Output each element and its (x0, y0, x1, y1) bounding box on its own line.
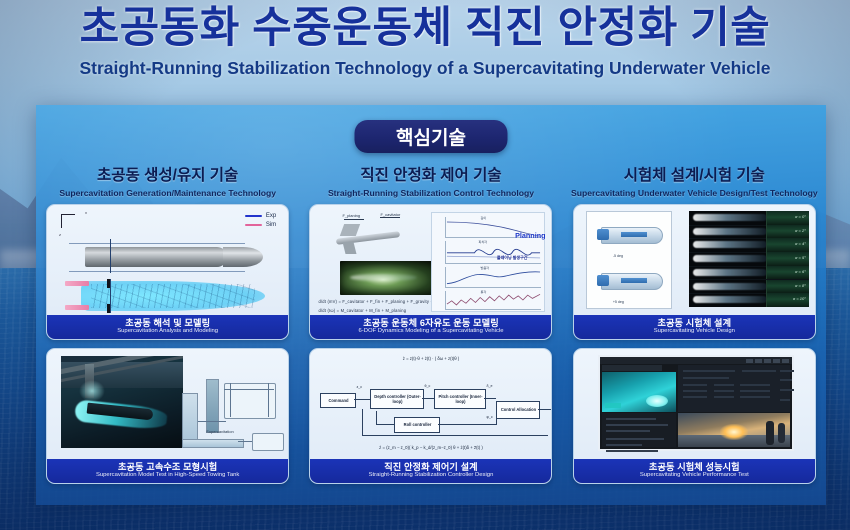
annotation-planning: Planning (515, 231, 545, 240)
cavity-streak (693, 241, 767, 248)
schematic-leader (198, 421, 226, 422)
cavity-line-upper (69, 243, 245, 244)
core-technology-badge: 핵심기술 (355, 120, 508, 153)
signal-label-thetac: θ_c (424, 384, 430, 388)
schematic-strut (206, 379, 219, 433)
column-title-english: Supercavitating Underwater Vehicle Desig… (571, 188, 818, 198)
figure-software-dashboard (574, 349, 815, 459)
window-titlebar (600, 357, 792, 364)
cavity-streak (693, 296, 767, 303)
feedback-vertical-left (362, 409, 363, 435)
telemetry-table (678, 365, 790, 412)
card-vehicle-design[interactable]: -5 deg +5 deg α = 0° (573, 204, 816, 340)
card-caption: 초공동 시험체 성능시험 Supercavitating Vehicle Per… (574, 459, 815, 483)
water-spray (79, 380, 105, 402)
schematic-line-1 (224, 389, 274, 390)
plot-title-roll: 롤각 (480, 289, 486, 294)
plot-title-pitch: 피치각 (478, 239, 487, 244)
block-pitch-controller: Pitch controller (Inner-loop) (434, 389, 486, 409)
block-command: Command (320, 393, 356, 408)
cavity-streak (693, 255, 767, 262)
grid-row: α = 0° (689, 211, 809, 226)
cad-view-lower (591, 264, 667, 298)
card-towing-tank-test[interactable]: Supercavitation 초공동 고속수조 모형시험 Supercavit… (46, 348, 289, 484)
column-header: 초공동 생성/유지 기술 Supercavitation Generation/… (59, 163, 276, 198)
caption-english: 6-DOF Dynamics Modeling of a Supercavita… (358, 329, 503, 335)
station-line-bottom (110, 279, 111, 313)
card-caption: 초공동 고속수조 모형시험 Supercavitation Model Test… (47, 459, 288, 483)
cad-cutaway-panel: -5 deg +5 deg (586, 211, 672, 309)
cavity-streak (693, 228, 767, 235)
figure-block-diagram: ż = z(t)·θ + ż(t) · ( δω + z(t)θ ) ż = … (310, 349, 551, 459)
technician-figure-secondary (778, 423, 785, 443)
column-title-english: Straight-Running Stabilization Control T… (328, 188, 534, 198)
cad-view-upper (591, 218, 667, 252)
grid-row: α = 6° (689, 266, 809, 281)
software-window (600, 357, 792, 449)
feedback-to-roll (376, 424, 394, 425)
status-panel (602, 413, 676, 447)
cavitation-photo (340, 261, 436, 295)
plot-roll (445, 291, 541, 310)
signal-junction-vertical (496, 401, 497, 425)
signal-line-command-depth (354, 399, 370, 400)
card-supercavitation-analysis[interactable]: x z Exp Sim (46, 204, 289, 340)
plot-roll-curve (446, 291, 541, 309)
schematic-base (182, 439, 244, 448)
force-label-planing: F_planing (342, 213, 360, 218)
card-caption: 초공동 해석 및 모델링 Supercavitation Analysis an… (47, 315, 288, 339)
grid-label-alpha: α = 4° (795, 241, 806, 246)
column-vehicle-design-test: 시험체 설계/시험 기술 Supercavitating Underwater … (563, 163, 826, 492)
force-arrow-planing (344, 219, 364, 220)
lab-test-photo (678, 413, 790, 447)
cad-cavitator-lower (597, 275, 609, 286)
grid-label-cell: α = 10° (766, 293, 809, 307)
equation-rotational: d/dt (Iω) = M_cavitator + M_fin + M_plan… (318, 308, 406, 313)
block-control-allocation: Control Allocation (496, 401, 540, 419)
column-title-english: Supercavitation Generation/Maintenance T… (59, 188, 276, 198)
grid-row: α = 2° (689, 225, 809, 240)
grid-label-cell: α = 0° (766, 211, 809, 225)
signal-line-output (538, 409, 551, 410)
block-depth-controller: Depth controller (Outer-loop) (370, 389, 424, 409)
grid-label-cell: α = 4° (766, 238, 809, 252)
signal-line-pitch-allocation (484, 398, 496, 399)
feedback-branch-roll (376, 411, 377, 424)
annotation-planing-zone-korean: 플레이닝 발생구간 (497, 255, 528, 261)
plot-aoa (445, 267, 541, 288)
signal-line-roll-allocation (438, 424, 496, 425)
station-line-top (110, 239, 111, 273)
grid-label-alpha: α = 2° (795, 228, 806, 233)
caption-korean: 초공동 시험체 성능시험 (649, 463, 740, 472)
muzzle-flash (720, 424, 748, 440)
sonar-view (602, 372, 676, 412)
sonar-tag (605, 403, 621, 408)
figure-towing-tank: Supercavitation (47, 349, 288, 459)
free-body-diagram: F_planing F_cavitator (322, 213, 418, 259)
page-title-english: Straight-Running Stabilization Technolog… (0, 58, 850, 79)
exp-marker-upper (107, 279, 110, 288)
caption-korean: 초공동 해석 및 모델링 (125, 319, 210, 328)
card-performance-test[interactable]: 초공동 시험체 성능시험 Supercavitating Vehicle Per… (573, 348, 816, 484)
schematic-line-2 (230, 383, 231, 417)
figure-6dof: F_planing F_cavitator d/dt (mV) = F_cavi… (310, 205, 551, 315)
vehicle-fin-upper (340, 224, 360, 236)
sim-marker-upper (65, 281, 89, 286)
caption-korean: 초공동 고속수조 모형시험 (118, 463, 217, 472)
feedback-horizontal (362, 435, 548, 436)
test-image-grid: α = 0° α = 2° α = 4° α = 5° (689, 211, 809, 307)
grid-label-cell: α = 8° (766, 280, 809, 294)
card-6dof-modeling[interactable]: F_planing F_cavitator d/dt (mV) = F_cavi… (309, 204, 552, 340)
caption-english: Supercavitation Model Test in High-Speed… (96, 473, 239, 479)
sim-marker-lower (65, 305, 89, 310)
column-stabilization-control: 직진 안정화 제어 기술 Straight-Running Stabilizat… (299, 163, 562, 492)
grid-row: α = 4° (689, 238, 809, 253)
schematic-detail-inset (252, 433, 284, 451)
cad-label-lower: +5 deg (613, 300, 624, 304)
grid-label-alpha: α = 6° (795, 269, 806, 274)
card-controller-design[interactable]: ż = z(t)·θ + ż(t) · ( δω + z(t)θ ) ż = … (309, 348, 552, 484)
legend-item-exp: Exp (245, 213, 276, 219)
cad-actuator-lower (621, 278, 647, 283)
legend-swatch-sim (245, 224, 262, 226)
grid-label-alpha: α = 10° (793, 296, 806, 301)
towing-tank-photo (61, 356, 183, 448)
figure-cad-and-grid: -5 deg +5 deg α = 0° (574, 205, 815, 315)
legend-item-sim: Sim (245, 222, 276, 228)
figure-cfd-overlay: x z Exp Sim (47, 205, 288, 315)
signal-label-phic: φ_c (486, 415, 492, 419)
cad-label-upper: -5 deg (613, 254, 623, 258)
grid-label-alpha: α = 0° (795, 214, 806, 219)
block-roll-controller: Roll controller (394, 417, 440, 433)
schematic-leader-2 (238, 441, 252, 442)
sonar-target-blob (646, 395, 668, 407)
vehicle-fin-lower (343, 242, 357, 254)
grid-row: α = 8° (689, 280, 809, 295)
cad-actuator-upper (621, 232, 647, 237)
column-title-korean: 시험체 설계/시험 기술 (571, 163, 818, 185)
schematic-wall-left (182, 393, 198, 445)
timeseries-plot-group: 깊이 피치각 받음각 (431, 212, 545, 312)
equation-bottom: ż = (z_m − z_0)( k_p − k_d/(z_m−z_0) θ +… (320, 445, 541, 450)
signal-label-zc: z_c (356, 385, 362, 389)
plot-title-depth: 깊이 (480, 215, 486, 220)
axis-label-z: z (59, 233, 61, 237)
technician-figure (766, 421, 774, 445)
exp-marker-lower (107, 304, 110, 313)
vehicle-hull (85, 247, 227, 267)
card-caption: 직진 안정화 제어기 설계 Straight-Running Stabiliza… (310, 459, 551, 483)
tank-schematic: Supercavitation (180, 377, 284, 451)
slide-panel: 핵심기술 초공동 생성/유지 기술 Supercavitation Genera… (36, 105, 826, 505)
caption-english: Supercavitation Analysis and Modeling (117, 329, 218, 335)
plot-title-aoa: 받음각 (480, 265, 489, 270)
menu-bar[interactable] (602, 365, 662, 371)
caption-english: Straight-Running Stabilization Controlle… (369, 473, 494, 479)
monitor-bezel (598, 355, 794, 451)
grid-label-cell: α = 5° (766, 252, 809, 266)
window-controls[interactable] (746, 359, 789, 363)
column-title-korean: 직진 안정화 제어 기술 (328, 163, 534, 185)
cavity-streak (693, 214, 767, 221)
signal-line-depth-pitch (422, 398, 434, 399)
caption-english: Supercavitating Vehicle Design (654, 329, 735, 335)
signal-label-deltae: δ_e (486, 384, 492, 388)
legend-label-sim: Sim (266, 222, 276, 228)
grid-label-alpha: α = 8° (795, 283, 806, 288)
column-title-korean: 초공동 생성/유지 기술 (59, 163, 276, 185)
caption-korean: 직진 안정화 제어기 설계 (384, 463, 477, 472)
grid-row: α = 10° (689, 293, 809, 307)
page-title-korean: 초공동화 수중운동체 직진 안정화 기술 (0, 4, 850, 52)
axis-indicator-icon (61, 214, 83, 234)
column-supercavitation-generation: 초공동 생성/유지 기술 Supercavitation Generation/… (36, 163, 299, 492)
force-label-cavitator: F_cavitator (380, 212, 400, 217)
cavity-streak (693, 283, 767, 290)
grid-row: α = 5° (689, 252, 809, 267)
equation-top: ż = z(t)·θ + ż(t) · ( δω + z(t)θ ) (320, 356, 541, 361)
caption-english: Supercavitating Vehicle Performance Test (640, 473, 749, 479)
cad-cavitator-upper (597, 229, 609, 240)
axis-label-x: x (85, 211, 87, 215)
slide-title-block: 초공동화 수중운동체 직진 안정화 기술 Straight-Running St… (0, 4, 850, 79)
card-caption: 초공동 시험체 설계 Supercavitating Vehicle Desig… (574, 315, 815, 339)
legend-label-exp: Exp (266, 213, 276, 219)
vehicle-nose (223, 247, 263, 267)
cavity-streak (693, 269, 767, 276)
legend-swatch-exp (245, 215, 262, 217)
caption-korean: 초공동 운동체 6자유도 운동 모델링 (363, 319, 499, 328)
plot-aoa-curve (446, 267, 541, 287)
grid-label-alpha: α = 5° (795, 255, 806, 260)
figure-legend: Exp Sim (245, 213, 276, 231)
force-arrow-cavitator (380, 217, 400, 218)
schematic-line-3 (268, 383, 269, 417)
caption-korean: 초공동 시험체 설계 (657, 319, 731, 328)
card-caption: 초공동 운동체 6자유도 운동 모델링 6-DOF Dynamics Model… (310, 315, 551, 339)
cavity-line-lower (69, 271, 245, 272)
schematic-label-supercavitation: Supercavitation (206, 429, 234, 434)
grid-label-cell: α = 2° (766, 225, 809, 239)
technology-columns: 초공동 생성/유지 기술 Supercavitation Generation/… (36, 163, 826, 492)
column-header: 시험체 설계/시험 기술 Supercavitating Underwater … (571, 163, 818, 198)
column-header: 직진 안정화 제어 기술 Straight-Running Stabilizat… (328, 163, 534, 198)
grid-label-cell: α = 6° (766, 266, 809, 280)
